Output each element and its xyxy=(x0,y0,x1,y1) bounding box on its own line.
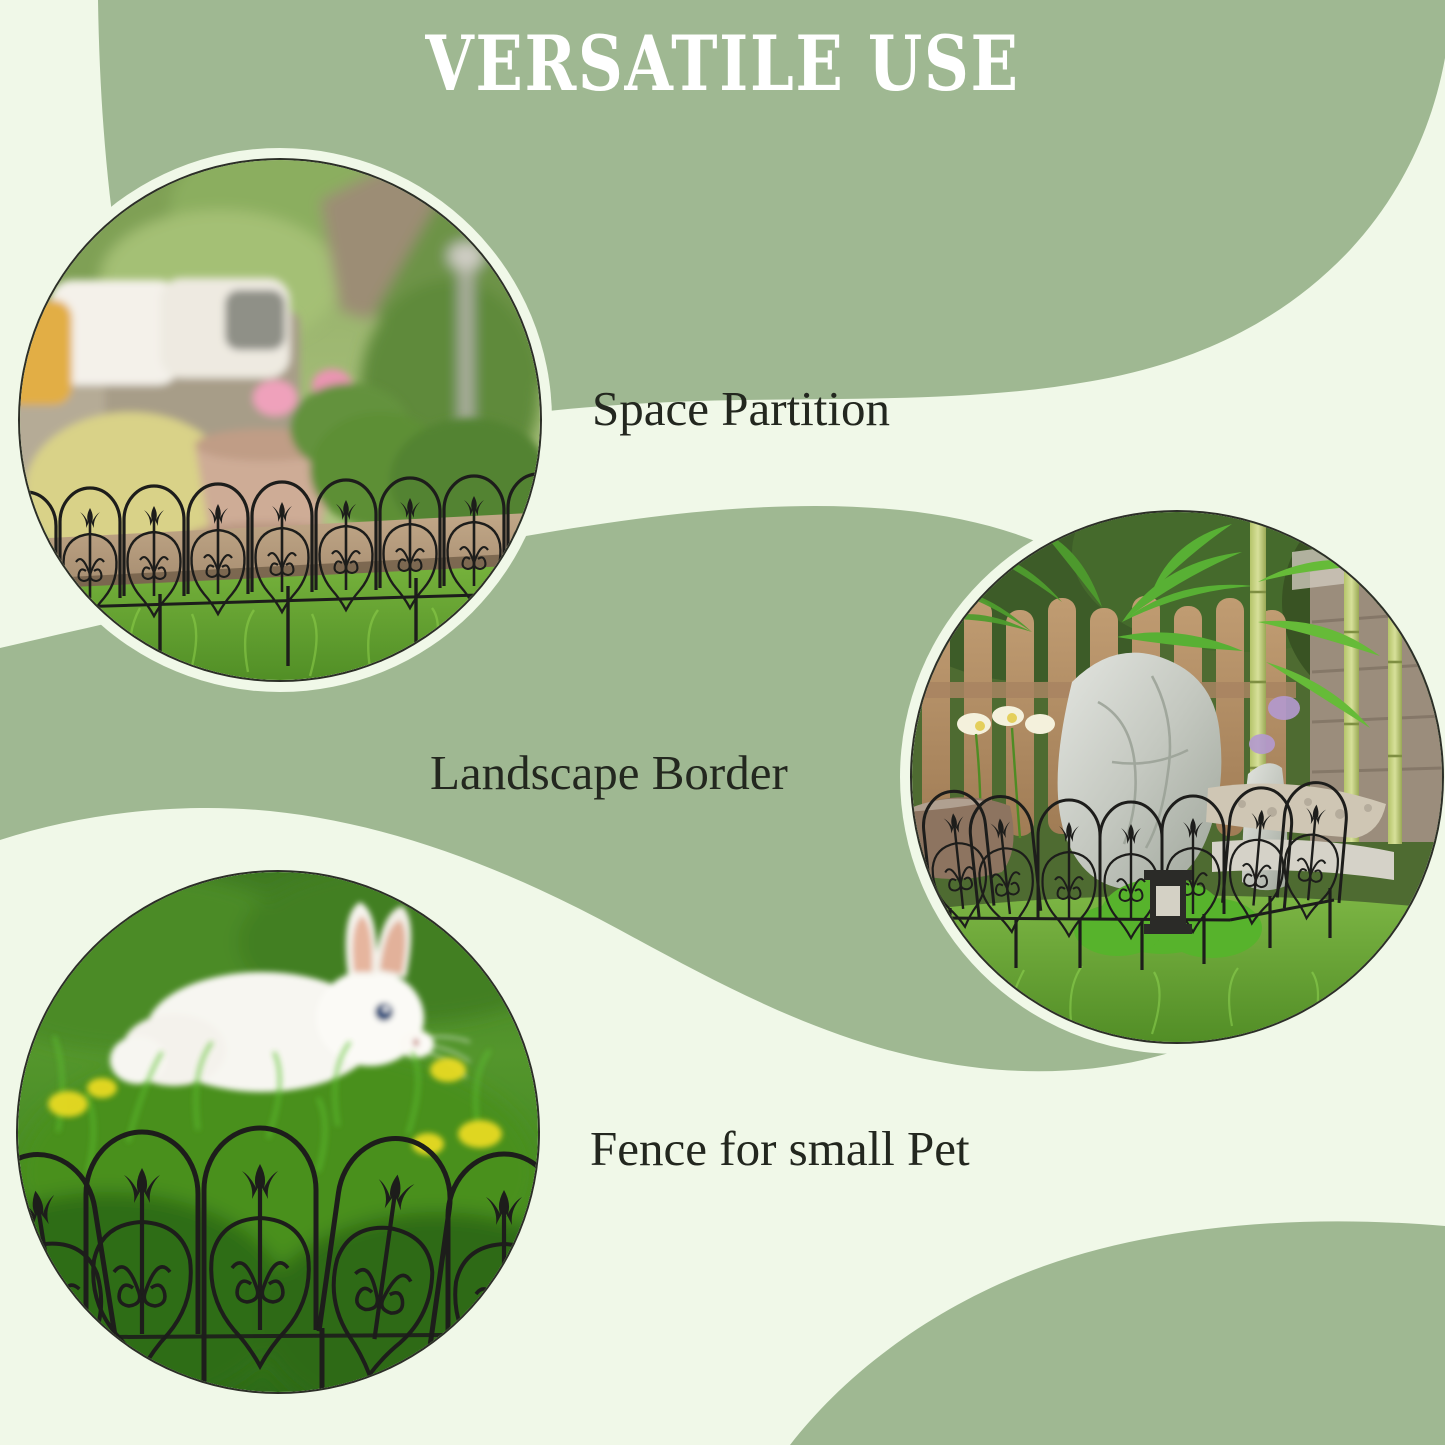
photo-space-partition xyxy=(20,160,540,680)
photo-fence-for-small-pet xyxy=(18,872,538,1392)
photo-circle-fence-for-small-pet xyxy=(18,872,538,1392)
caption-fence-for-small-pet: Fence for small Pet xyxy=(590,1124,970,1173)
photo-landscape-border xyxy=(912,512,1442,1042)
infographic-canvas: VERSATILE USE Space Partition Landscape … xyxy=(0,0,1445,1445)
photo-circle-landscape-border xyxy=(912,512,1442,1042)
caption-landscape-border: Landscape Border xyxy=(430,748,788,797)
caption-space-partition: Space Partition xyxy=(592,384,890,433)
page-title: VERSATILE USE xyxy=(130,26,1315,102)
photo-circle-space-partition xyxy=(20,160,540,680)
